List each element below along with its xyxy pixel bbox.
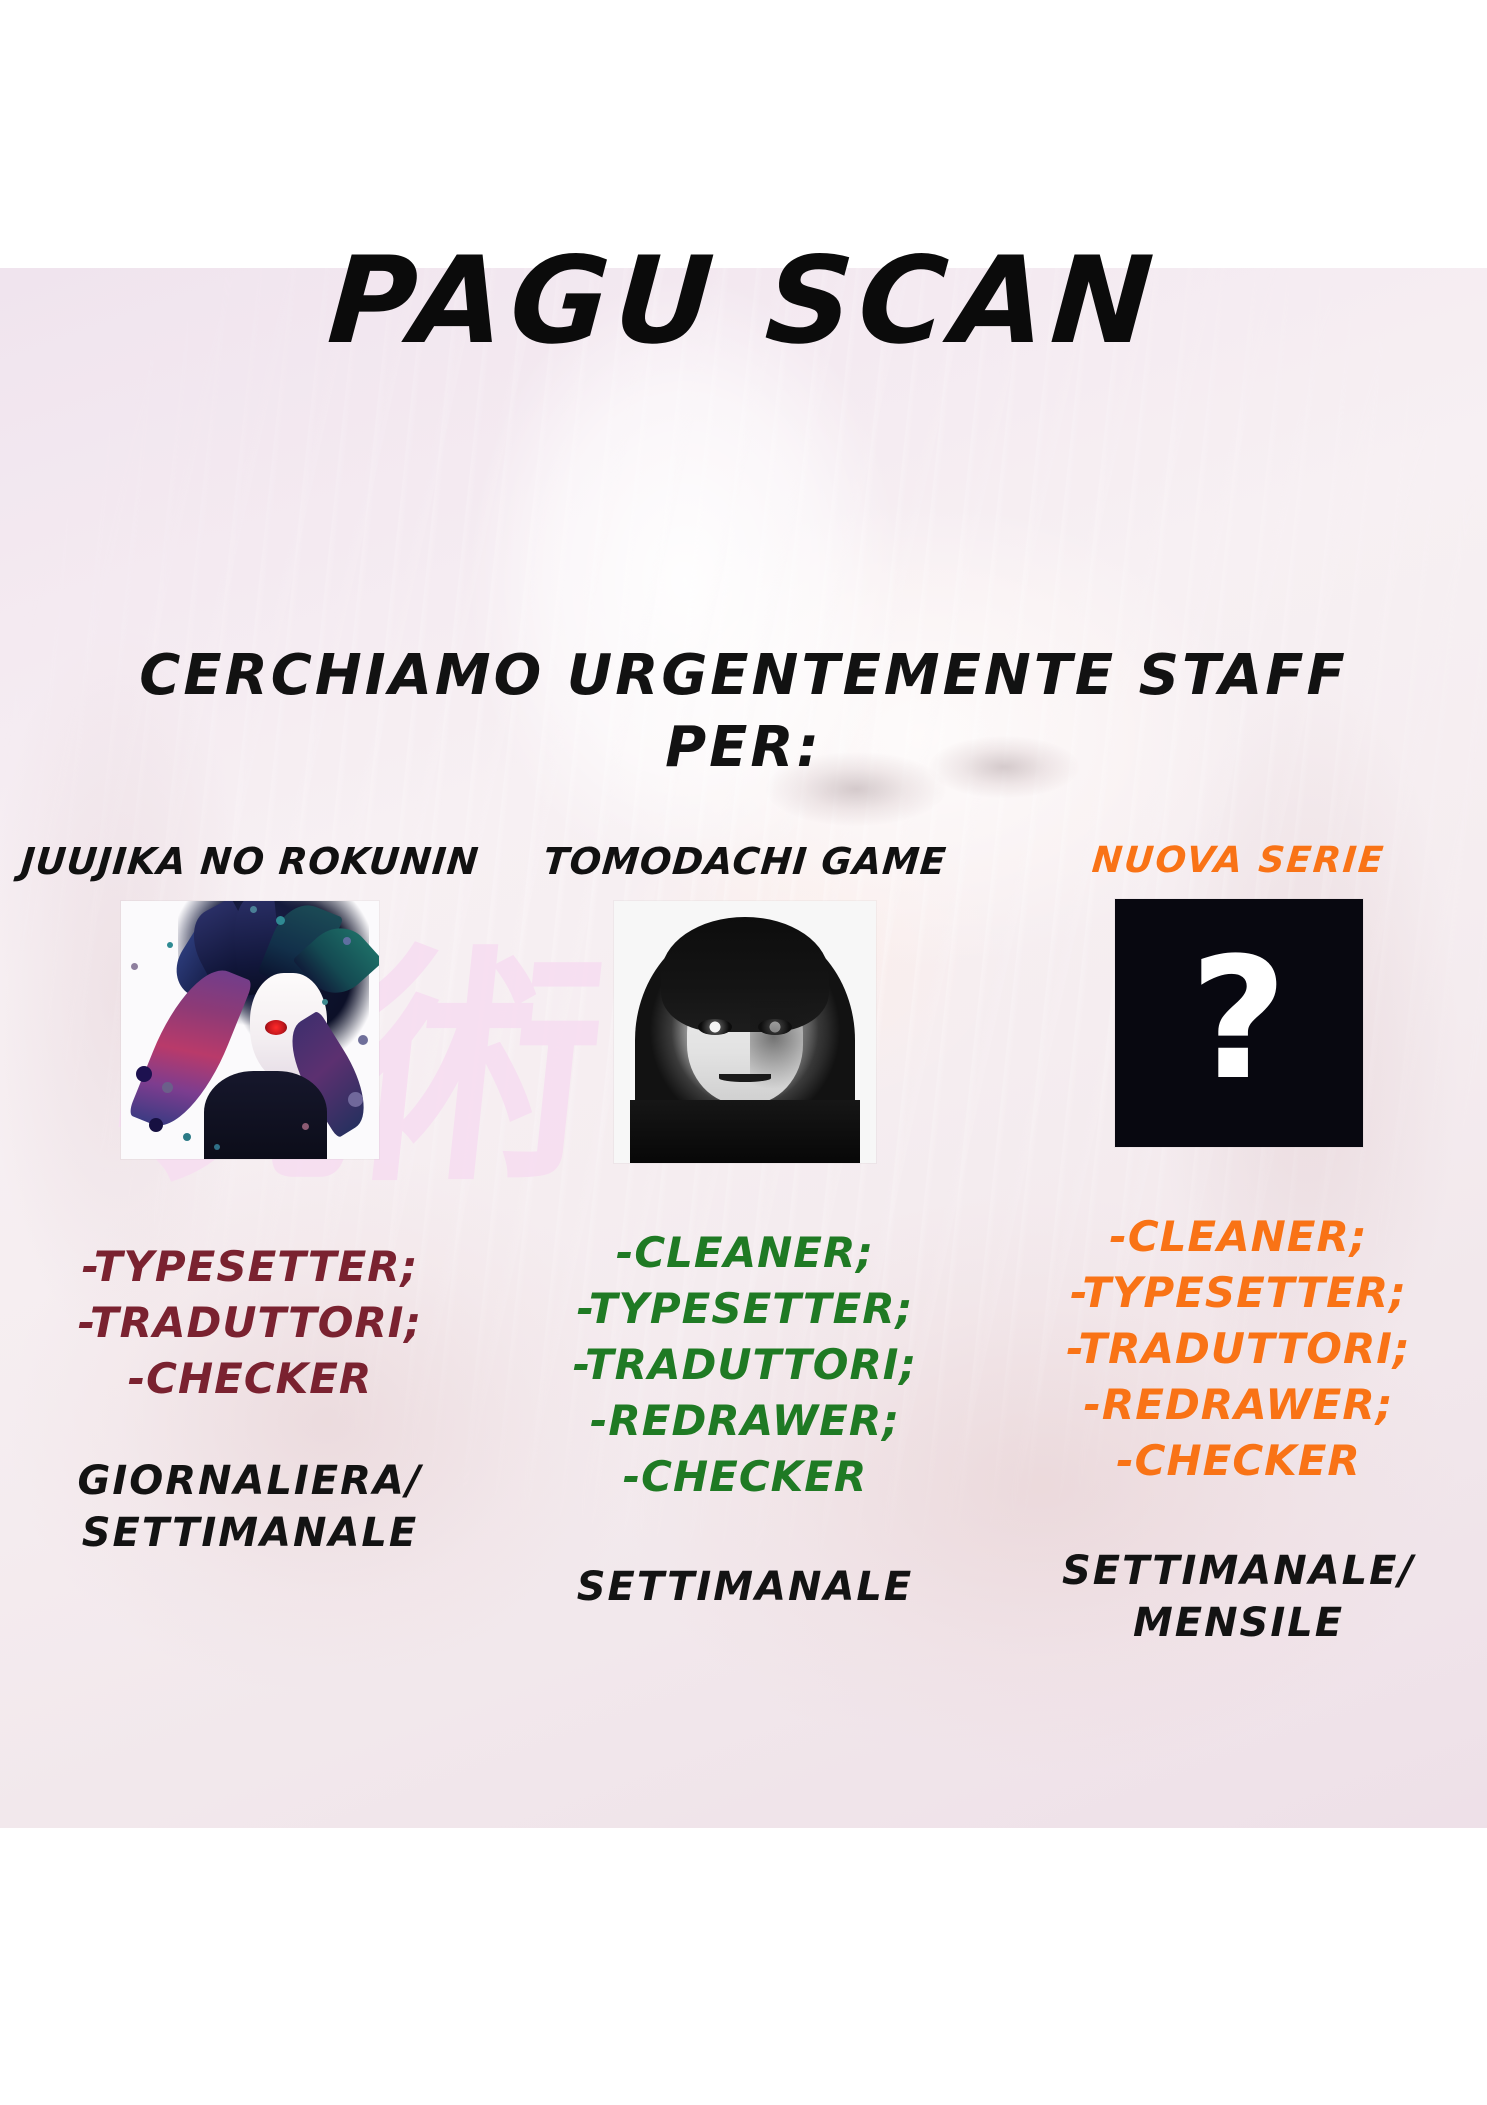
recruitment-poster: 呪術 PAGU SCAN CERCHIAMO URGENTEMENTE STAF…: [0, 0, 1487, 2105]
cover-collar: [630, 1100, 861, 1163]
role-item: -CHECKER: [990, 1433, 1487, 1489]
role-item: -CLEANER;: [990, 1209, 1487, 1265]
role-item: -CHECKER: [0, 1351, 500, 1407]
roles-list-tomodachi-game: -CLEANER; -TYPESETTER; -TRADUTTORI; -RED…: [500, 1225, 990, 1505]
cover-face-shadow: [750, 1001, 829, 1090]
page-title: PAGU SCAN: [0, 232, 1487, 371]
role-item: -TYPESETTER;: [990, 1265, 1487, 1321]
series-title-tomodachi-game: TOMODACHI GAME: [498, 840, 992, 883]
frequency-tomodachi-game: SETTIMANALE: [500, 1561, 990, 1613]
cover-eye-left: [698, 1019, 732, 1035]
thumbnail-wrapper-3: ?: [990, 899, 1487, 1147]
frequency-line: MENSILE: [990, 1597, 1487, 1649]
series-columns: JUUJIKA NO ROKUNIN: [0, 840, 1487, 1800]
subtitle: CERCHIAMO URGENTEMENTE STAFF PER:: [0, 640, 1487, 784]
series-column-tomodachi-game: TOMODACHI GAME -CLEANER; -TYPESETTER;: [500, 840, 990, 1800]
frequency-line: SETTIMANALE: [500, 1561, 990, 1613]
subtitle-line-1: CERCHIAMO URGENTEMENTE STAFF: [139, 643, 1347, 708]
cover-paint-splatter: [121, 901, 379, 1159]
roles-list-nuova-serie: -CLEANER; -TYPESETTER; -TRADUTTORI; -RED…: [990, 1209, 1487, 1489]
frequency-line: SETTIMANALE: [0, 1507, 500, 1559]
thumbnail-wrapper-1: [0, 901, 500, 1159]
series-column-juujika-no-rokunin: JUUJIKA NO ROKUNIN: [0, 840, 500, 1800]
question-mark-icon: ?: [1190, 935, 1287, 1103]
subtitle-line-2: PER:: [0, 712, 1487, 784]
frequency-line: SETTIMANALE/: [990, 1545, 1487, 1597]
series-title-juujika-no-rokunin: JUUJIKA NO ROKUNIN: [0, 840, 502, 883]
role-item: -REDRAWER;: [500, 1393, 990, 1449]
frequency-juujika-no-rokunin: GIORNALIERA/ SETTIMANALE: [0, 1455, 500, 1559]
series-column-nuova-serie: NUOVA SERIE ? -CLEANER; -TYPESETTER; -TR…: [990, 840, 1487, 1800]
role-item: -TYPESETTER;: [0, 1239, 500, 1295]
roles-list-juujika-no-rokunin: -TYPESETTER; -TRADUTTORI; -CHECKER: [0, 1239, 500, 1407]
role-item: -CHECKER: [500, 1449, 990, 1505]
role-item: -TYPESETTER;: [500, 1281, 990, 1337]
role-item: -TRADUTTORI;: [0, 1295, 500, 1351]
series-cover-juujika-no-rokunin: [121, 901, 379, 1159]
role-item: -REDRAWER;: [990, 1377, 1487, 1433]
series-cover-tomodachi-game: [614, 901, 876, 1163]
series-cover-unknown: ?: [1115, 899, 1363, 1147]
role-item: -TRADUTTORI;: [990, 1321, 1487, 1377]
thumbnail-wrapper-2: [500, 901, 990, 1163]
role-item: -TRADUTTORI;: [500, 1337, 990, 1393]
role-item: -CLEANER;: [500, 1225, 990, 1281]
series-title-nuova-serie: NUOVA SERIE: [988, 840, 1487, 881]
frequency-nuova-serie: SETTIMANALE/ MENSILE: [990, 1545, 1487, 1649]
frequency-line: GIORNALIERA/: [0, 1455, 500, 1507]
